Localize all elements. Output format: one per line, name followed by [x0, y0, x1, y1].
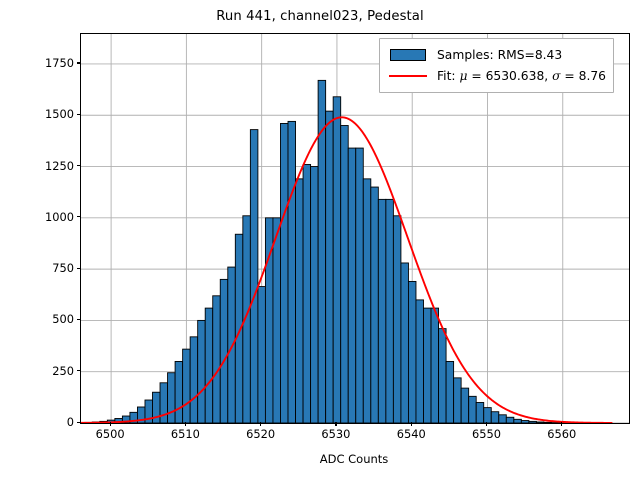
y-tick-mark: [77, 216, 81, 217]
legend-line-swatch-icon: [387, 67, 429, 84]
histogram-bar: [190, 337, 198, 423]
x-tick-label: 6500: [96, 427, 125, 441]
histogram-bar: [356, 148, 364, 423]
histogram-bar: [205, 308, 213, 423]
histogram-bar: [250, 130, 258, 423]
y-tick-label: 1500: [45, 107, 74, 121]
y-axis-label: Entries: [0, 116, 3, 276]
histogram-bar: [446, 361, 454, 423]
histogram-bar: [401, 263, 409, 423]
histogram-bar: [536, 422, 544, 423]
x-tick-label: 6560: [547, 427, 576, 441]
histogram-bar: [544, 422, 552, 423]
x-axis-label: ADC Counts: [80, 452, 628, 466]
y-tick-mark: [77, 62, 81, 63]
y-tick-mark: [77, 268, 81, 269]
histogram-bar: [288, 121, 296, 423]
histogram-bar: [296, 179, 304, 423]
x-tick-label: 6540: [397, 427, 426, 441]
histogram-bar: [235, 234, 243, 423]
x-tick-label: 6530: [321, 427, 350, 441]
legend-patch-swatch-icon: [387, 46, 429, 63]
x-tick-mark: [110, 422, 111, 426]
histogram-bar: [160, 383, 168, 423]
histogram-bar: [424, 308, 432, 423]
x-tick-mark: [335, 422, 336, 426]
histogram-bar: [371, 187, 379, 423]
y-tick-label: 1750: [45, 56, 74, 70]
histogram-bar: [333, 97, 341, 423]
x-tick-label: 6520: [246, 427, 275, 441]
histogram-bar: [491, 412, 499, 423]
histogram-bar: [303, 164, 311, 423]
chart-figure: Run 441, channel023, Pedestal Entries AD…: [0, 0, 640, 480]
x-tick-label: 6510: [171, 427, 200, 441]
histogram-bar: [461, 388, 469, 423]
legend-label-samples: Samples: RMS=8.43: [437, 48, 562, 62]
histogram-bar: [469, 396, 477, 423]
y-tick-mark: [77, 422, 81, 423]
y-tick-label: 1250: [45, 159, 74, 173]
y-tick-mark: [77, 114, 81, 115]
histogram-bar: [228, 267, 236, 423]
histogram-bar: [416, 300, 424, 423]
x-tick-mark: [260, 422, 261, 426]
histogram-bar: [348, 148, 356, 423]
histogram-bar: [521, 421, 529, 423]
legend-entry-fit: Fit: μ = 6530.638, σ = 8.76: [387, 65, 606, 86]
y-tick-mark: [77, 165, 81, 166]
histogram-bar: [499, 415, 507, 423]
histogram-bar: [363, 179, 371, 423]
x-tick-mark: [486, 422, 487, 426]
x-tick-mark: [561, 422, 562, 426]
histogram-bar: [273, 218, 281, 423]
histogram-bar: [378, 199, 386, 423]
chart-title: Run 441, channel023, Pedestal: [0, 9, 640, 24]
histogram-bar: [408, 281, 416, 423]
y-tick-label: 250: [52, 364, 74, 378]
histogram-bar: [175, 361, 183, 423]
legend-entry-samples: Samples: RMS=8.43: [387, 44, 606, 65]
y-tick-label: 0: [67, 415, 74, 429]
x-tick-mark: [185, 422, 186, 426]
histogram-bar: [198, 320, 206, 423]
histogram-bar: [431, 308, 439, 423]
x-tick-label: 6550: [472, 427, 501, 441]
chart-legend: Samples: RMS=8.43 Fit: μ = 6530.638, σ =…: [379, 38, 614, 93]
histogram-bar: [280, 123, 288, 423]
x-tick-mark: [411, 422, 412, 426]
histogram-bar: [393, 216, 401, 423]
histogram-bar: [168, 373, 176, 423]
legend-label-fit: Fit: μ = 6530.638, σ = 8.76: [437, 69, 606, 83]
y-tick-label: 1000: [45, 210, 74, 224]
histogram-bar: [506, 417, 514, 423]
histogram-bar: [476, 402, 484, 423]
histogram-bar: [326, 111, 334, 423]
histogram-bar: [258, 287, 266, 423]
histogram-bar: [439, 329, 447, 423]
histogram-bar: [213, 296, 221, 423]
y-tick-mark: [77, 370, 81, 371]
histogram-bar: [183, 349, 191, 423]
y-tick-label: 750: [52, 261, 74, 275]
histogram-bar: [220, 279, 228, 423]
histogram-bar: [454, 378, 462, 423]
histogram-bar: [311, 167, 319, 423]
y-tick-label: 500: [52, 312, 74, 326]
y-tick-mark: [77, 319, 81, 320]
histogram-bar: [514, 419, 522, 423]
histogram-bar: [341, 126, 349, 423]
histogram-bar: [484, 408, 492, 423]
histogram-bar: [386, 199, 394, 423]
histogram-bar: [529, 421, 537, 423]
